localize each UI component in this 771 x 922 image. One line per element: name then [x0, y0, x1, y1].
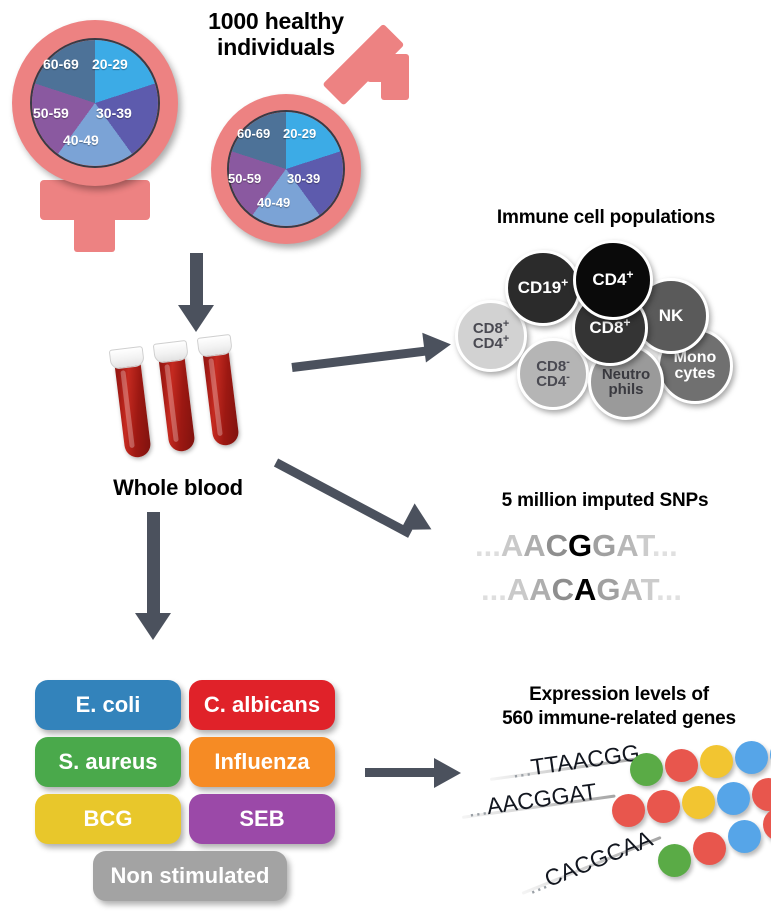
arrow-blood-to-immune-cells-head: [422, 329, 452, 362]
dna-strand-2-bead-4: [717, 782, 750, 815]
immune-cell-cd19pos-label: CD19+: [518, 279, 569, 296]
dna-strand-1-bead-3: [700, 745, 733, 778]
female-symbol-crossbar: [40, 180, 150, 220]
figure-canvas: 1000 healthy individuals 20-29 30-39 40-…: [0, 0, 771, 922]
snp-sequences: ...AACGGAT... ...AACAGAT...: [475, 528, 745, 608]
arrow-blood-to-stimuli-shaft: [147, 512, 160, 616]
stimulus-non-stimulated[interactable]: Non stimulated: [93, 851, 287, 901]
arrow-stimuli-to-expression-shaft: [365, 768, 437, 777]
stimulus-c-albicans[interactable]: C. albicans: [189, 680, 335, 730]
arrow-cohort-to-blood-head: [178, 305, 214, 332]
snp-row-2-prefix: ...: [481, 572, 507, 607]
blood-tube-2: [157, 339, 206, 464]
stimuli-panel: E. coli C. albicans S. aureus Influenza …: [35, 680, 345, 895]
arrow-blood-to-snps-shaft: [274, 459, 412, 538]
dna-strand-2-bead-3: [682, 786, 715, 819]
genotype-title: 5 million imputed SNPs: [450, 490, 760, 512]
stimulus-c-albicans-label: C. albicans: [204, 692, 320, 718]
dna-strand-3: ...CACGCAA: [522, 862, 771, 922]
immune-cell-cd4pos: CD4+: [573, 240, 653, 320]
stimulus-e-coli-label: E. coli: [76, 692, 141, 718]
dna-strand-1-bases: TTAACGG: [529, 739, 641, 780]
expression-title-line-2: 560 immune-related genes: [470, 707, 768, 731]
blood-tube-3: [201, 333, 250, 458]
snp-row-2-suffix: ...: [656, 572, 682, 607]
male-pie-label-60-69: 60-69: [237, 126, 270, 141]
immune-cell-cd19pos: CD19+: [505, 250, 581, 326]
immune-cell-cd8pos-label: CD8+: [589, 319, 630, 336]
snp-row-1-prefix: ...: [475, 528, 501, 563]
female-pie-label-50-59: 50-59: [33, 105, 69, 121]
immune-cell-cd8pos-cd4pos-label: CD8+CD4+: [473, 321, 509, 352]
snp-row-2-variant: A: [574, 572, 596, 607]
immune-cell-monocytes-label: Monocytes: [674, 350, 717, 383]
stimulus-s-aureus[interactable]: S. aureus: [35, 737, 181, 787]
dna-strand-3-bead-2: [693, 832, 726, 865]
cohort-title: 1000 healthy individuals: [178, 8, 374, 61]
stimulus-seb[interactable]: SEB: [189, 794, 335, 844]
snp-sequence-row-2: ...AACAGAT...: [481, 572, 682, 608]
arrow-stimuli-to-expression-head: [434, 758, 461, 788]
immune-cells-title: Immune cell populations: [448, 207, 764, 229]
stimulus-bcg[interactable]: BCG: [35, 794, 181, 844]
blood-tubes: [118, 335, 258, 465]
female-pie-label-30-39: 30-39: [96, 105, 132, 121]
stimulus-non-stimulated-label: Non stimulated: [111, 863, 270, 889]
dna-strand-1-bead-1: [630, 753, 663, 786]
dna-strand-2-bead-5: [752, 778, 771, 811]
dna-strand-1-sequence: ...TTAACGG: [510, 739, 641, 784]
female-pie-label-20-29: 20-29: [92, 56, 128, 72]
dna-strand-3-bead-4: [763, 808, 771, 841]
female-pie-label-60-69: 60-69: [43, 56, 79, 72]
immune-cell-cluster: CD8+CD4+ CD8-CD4- Monocytes NK Neutrophi…: [455, 240, 755, 420]
female-pie-label-40-49: 40-49: [63, 132, 99, 148]
immune-cell-cd8neg-cd4neg-label: CD8-CD4-: [536, 359, 570, 390]
stimulus-seb-label: SEB: [239, 806, 284, 832]
immune-cell-cd4pos-label: CD4+: [592, 271, 633, 288]
male-pie-label-30-39: 30-39: [287, 171, 320, 186]
female-symbol: 20-29 30-39 40-49 50-59 60-69: [8, 14, 184, 252]
male-symbol-arrow-barb-2: [381, 54, 409, 100]
dna-strand-3-bead-3: [728, 820, 761, 853]
snp-row-1-variant: G: [568, 528, 592, 563]
arrow-cohort-to-blood-shaft: [190, 253, 203, 308]
dna-strand-2-bead-2: [647, 790, 680, 823]
whole-blood-label: Whole blood: [78, 475, 278, 500]
stimulus-influenza-label: Influenza: [214, 749, 309, 775]
dna-strand-1-bead-4: [735, 741, 768, 774]
snp-sequence-row-1: ...AACGGAT...: [475, 528, 678, 564]
stimulus-bcg-label: BCG: [84, 806, 133, 832]
blood-tube-1: [113, 345, 162, 470]
immune-cell-nk-label: NK: [659, 307, 684, 324]
male-symbol: 20-29 30-39 40-49 50-59 60-69: [205, 70, 415, 250]
stimulus-s-aureus-label: S. aureus: [58, 749, 157, 775]
stimulus-e-coli[interactable]: E. coli: [35, 680, 181, 730]
expression-title: Expression levels of 560 immune-related …: [470, 683, 768, 731]
arrow-blood-to-immune-cells-shaft: [291, 346, 427, 372]
dna-strand-1-bead-2: [665, 749, 698, 782]
dna-strand-2-bead-1: [612, 794, 645, 827]
male-pie-label-40-49: 40-49: [257, 195, 290, 210]
male-pie-label-20-29: 20-29: [283, 126, 316, 141]
male-pie-label-50-59: 50-59: [228, 171, 261, 186]
dna-strand-2: ...AACGGAT: [462, 788, 762, 838]
stimulus-influenza[interactable]: Influenza: [189, 737, 335, 787]
expression-title-line-1: Expression levels of: [470, 683, 768, 707]
arrow-blood-to-stimuli-head: [135, 613, 171, 640]
snp-row-1-suffix: ...: [652, 528, 678, 563]
immune-cell-neutrophils-label: Neutrophils: [602, 367, 650, 398]
dna-strand-3-bead-1: [658, 844, 691, 877]
